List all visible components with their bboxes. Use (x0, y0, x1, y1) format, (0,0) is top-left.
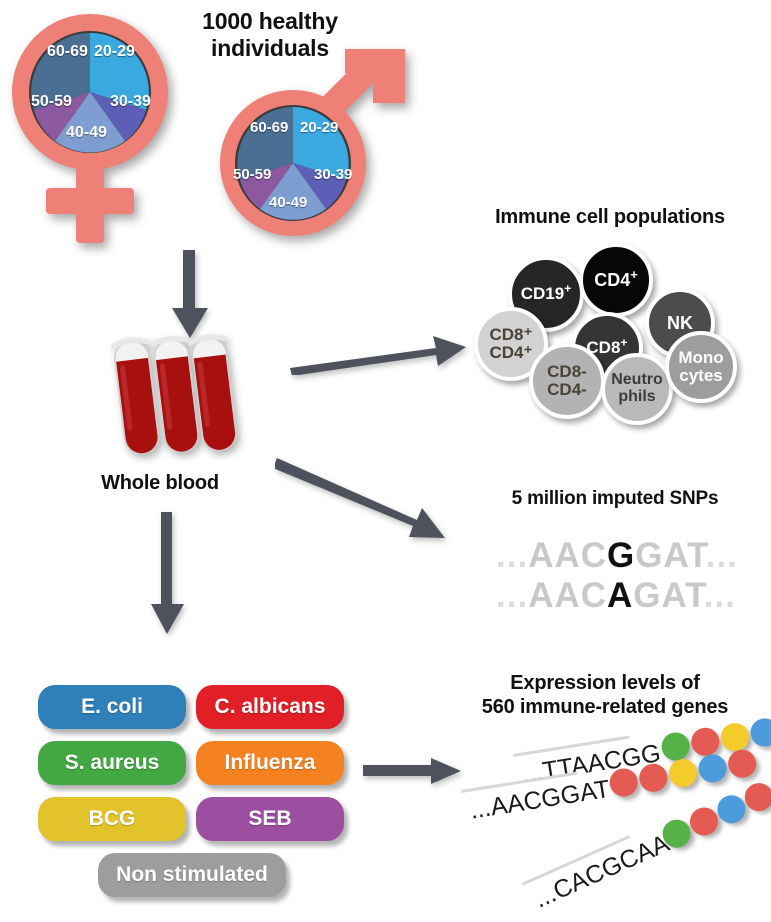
stimulus-pill[interactable]: S. aureus (38, 741, 186, 785)
snp-ellipsis-right: ... (704, 576, 736, 615)
immune-cell-circle: CD8- CD4- (529, 343, 605, 419)
stimulus-label: BCG (89, 807, 136, 831)
arrow-down-icon-blood-to-stimuli (148, 512, 188, 637)
immune-cell-circle: Mono cytes (665, 331, 737, 403)
immune-cell-label: Mono cytes (678, 349, 723, 385)
pie-slice-label-male-50-59: 50-59 (233, 166, 271, 183)
pie-slice-label-female-60-69: 60-69 (47, 43, 88, 61)
snp-variant-base: G (607, 536, 635, 575)
immune-cell-circle: Neutro phils (601, 353, 673, 425)
arrow-down-right-icon-blood-to-snps (275, 452, 460, 547)
arrow-up-right-icon-blood-to-immune (288, 325, 468, 375)
snp-ellipsis-right: ... (706, 536, 738, 575)
pie-slice-label-female-30-39: 30-39 (110, 93, 151, 111)
pie-slice-label-male-20-29: 20-29 (300, 119, 338, 136)
snp-base-run: AAC (528, 576, 607, 615)
stimulus-pill[interactable]: C. albicans (196, 685, 344, 729)
dna-nucleotide-bead (667, 757, 699, 789)
label-whole-blood: Whole blood (60, 472, 260, 496)
section-title-snps: 5 million imputed SNPs (455, 488, 771, 510)
stimulus-pill[interactable]: Influenza (196, 741, 344, 785)
arrow-down-icon-cohort-to-blood (168, 250, 212, 342)
dna-nucleotide-bead (726, 748, 758, 780)
section-title-expression: Expression levels of 560 immune-related … (440, 672, 770, 719)
pie-slice-label-female-40-49: 40-49 (66, 124, 107, 142)
stimulus-label: Influenza (224, 751, 315, 775)
arrow-right-icon-stimuli-to-expression (363, 755, 463, 787)
snp-variant-base: A (607, 576, 633, 615)
pie-slice-label-male-30-39: 30-39 (314, 166, 352, 183)
snp-sequence-row: ...AACAGAT... (496, 576, 736, 616)
male-symbol (205, 45, 410, 250)
snp-ellipsis-left: ... (496, 576, 528, 615)
blood-tubes-icon (98, 330, 238, 465)
dna-nucleotide-bead (689, 726, 721, 758)
snp-base-run: GAT (635, 536, 705, 575)
pie-slice-label-male-40-49: 40-49 (269, 194, 307, 211)
figure-canvas: 20-29 30-39 40-49 50-59 60-69 20-29 30-3… (0, 0, 771, 922)
stimulus-label: S. aureus (65, 751, 160, 775)
pie-slice-label-female-50-59: 50-59 (31, 93, 72, 111)
stimulus-pill[interactable]: BCG (38, 797, 186, 841)
stimulus-label: SEB (248, 807, 291, 831)
pie-slice-label-male-60-69: 60-69 (250, 119, 288, 136)
page-title-cohort: 1000 healthy individuals (160, 8, 380, 62)
stimulus-label: Non stimulated (116, 863, 268, 887)
pie-slice-label-female-20-29: 20-29 (94, 43, 135, 61)
dna-nucleotide-bead (660, 730, 692, 762)
immune-cell-label: NK (667, 314, 693, 333)
snp-base-run: AAC (528, 536, 607, 575)
snp-sequence-row: ...AACGGAT... (496, 536, 738, 576)
stimulus-pill[interactable]: Non stimulated (98, 853, 286, 897)
dna-nucleotide-bead (697, 752, 729, 784)
section-title-immune-cells: Immune cell populations (450, 206, 770, 230)
stimulus-pill[interactable]: SEB (196, 797, 344, 841)
snp-base-run: GAT (633, 576, 703, 615)
immune-cell-label: CD19+ (521, 285, 572, 303)
immune-cell-label: Neutro phils (611, 372, 663, 406)
immune-cell-label: CD8⁺ CD4⁺ (490, 326, 533, 362)
snp-ellipsis-left: ... (496, 536, 528, 575)
immune-cell-circle: CD4+ (579, 243, 653, 317)
stimulus-label: C. albicans (215, 695, 326, 719)
dna-nucleotide-bead (749, 716, 771, 748)
immune-cell-label: CD8- CD4- (547, 363, 587, 399)
immune-cell-label: CD4+ (594, 271, 638, 290)
stimulus-label: E. coli (81, 695, 143, 719)
dna-nucleotide-bead (719, 721, 751, 753)
stimulus-pill[interactable]: E. coli (38, 685, 186, 729)
